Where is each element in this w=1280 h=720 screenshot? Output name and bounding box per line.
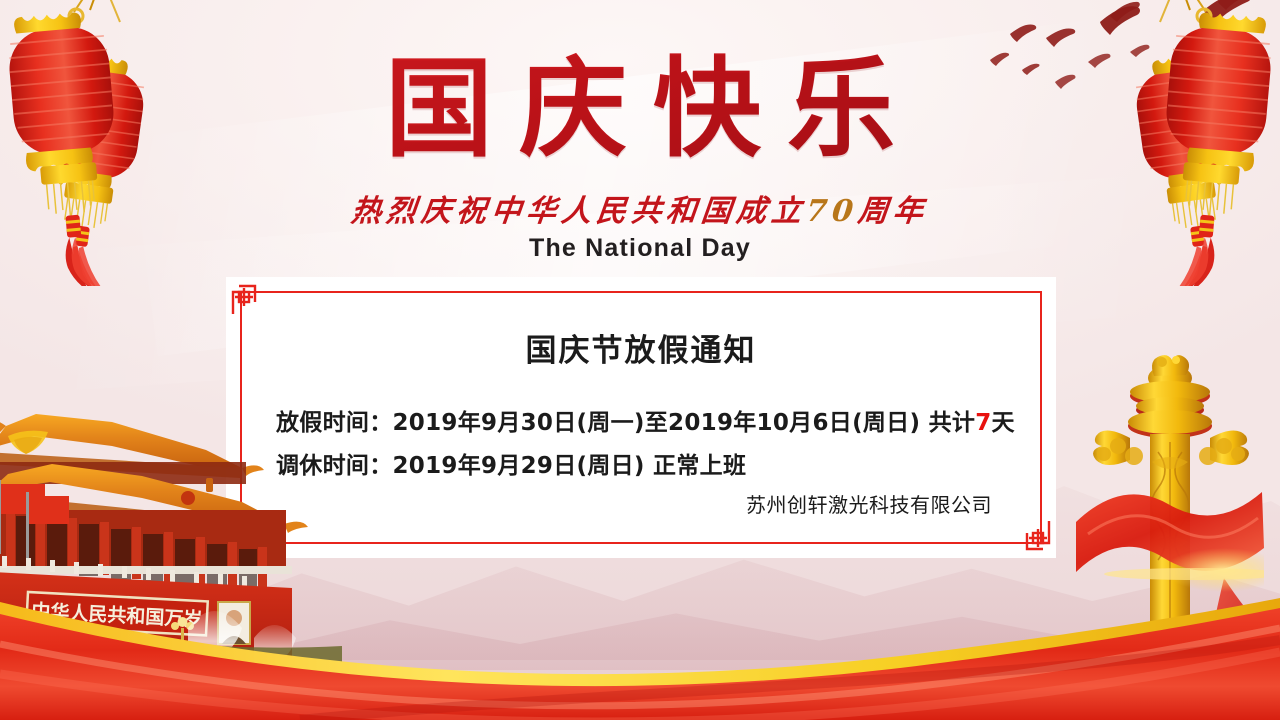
subtitle-anniversary-number: 70 xyxy=(804,194,859,229)
red-ribbon-wave-icon xyxy=(0,570,1280,720)
notice-line-workday-text: 2019年9月29日(周日) 正常上班 xyxy=(393,453,747,479)
notice-lines: 放假时间：2019年9月30日(周一)至2019年10月6日(周日) 共计7天 … xyxy=(276,402,1006,487)
tiananmen-banner-text: 中华人民共和国万岁 xyxy=(31,599,203,631)
notice-line-holiday-label: 放假时间： xyxy=(276,410,393,436)
lantern-icon xyxy=(0,0,204,286)
subtitle-prefix: 热烈庆祝中华人民共和国成立 xyxy=(349,194,808,229)
subtitle: 热烈庆祝中华人民共和国成立70周年 xyxy=(0,186,1280,230)
notice-line-holiday-text: 2019年9月30日(周一)至2019年10月6日(周日) 共计 xyxy=(393,410,976,436)
notice-line-holiday: 放假时间：2019年9月30日(周一)至2019年10月6日(周日) 共计7天 xyxy=(276,402,1006,445)
notice-line-workday: 调休时间：2019年9月29日(周日) 正常上班 xyxy=(276,445,1006,488)
subtitle-suffix: 周年 xyxy=(856,194,930,229)
national-day-poster: 国庆快乐 热烈庆祝中华人民共和国成立70周年 The National Day xyxy=(0,0,1280,720)
headline-text: 国庆快乐 xyxy=(359,46,921,173)
english-title: The National Day xyxy=(0,234,1280,263)
holiday-notice-card: 国庆节放假通知 放假时间：2019年9月30日(周一)至2019年10月6日(周… xyxy=(226,277,1056,558)
dove-icon xyxy=(960,0,1280,126)
notice-line-holiday-unit: 天 xyxy=(992,410,1015,436)
huabiao-icon xyxy=(1074,342,1264,672)
page-title: 国庆快乐 xyxy=(0,46,1280,173)
lantern-icon xyxy=(1076,0,1280,286)
notice-line-workday-label: 调休时间： xyxy=(276,453,393,479)
notice-line-holiday-days: 7 xyxy=(975,410,991,436)
notice-title: 国庆节放假通知 xyxy=(276,325,1006,370)
notice-body: 国庆节放假通知 放假时间：2019年9月30日(周一)至2019年10月6日(周… xyxy=(240,291,1042,544)
company-signature: 苏州创轩激光科技有限公司 xyxy=(276,489,1006,526)
